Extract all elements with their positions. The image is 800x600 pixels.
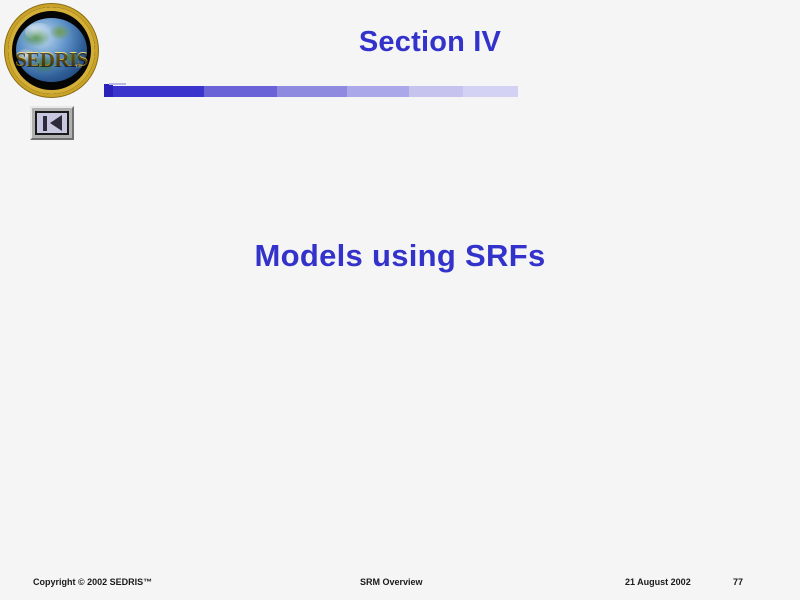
- progress-bar-segment-3: [277, 86, 347, 97]
- footer-copyright: Copyright © 2002 SEDRIS™: [33, 577, 152, 587]
- section-title: Section IV: [110, 26, 750, 59]
- footer-page-number: 77: [733, 577, 743, 587]
- footer-date: 21 August 2002: [625, 577, 691, 587]
- logo-trademark-symbol: ™: [75, 63, 82, 71]
- slide-canvas: SEDRIS ™ Section IV Models using SRFs Co…: [0, 0, 800, 600]
- section-progress-bar: [104, 86, 518, 97]
- page-title: Models using SRFs: [0, 238, 800, 274]
- back-button-face: [35, 111, 69, 135]
- back-button[interactable]: [30, 106, 74, 140]
- progress-bar-segment-1: [104, 86, 204, 97]
- progress-bar-segment-2: [204, 86, 277, 97]
- sedris-logo: SEDRIS ™: [8, 7, 95, 94]
- skip-to-start-icon-triangle: [50, 115, 62, 131]
- footer-document-name: SRM Overview: [360, 577, 423, 587]
- progress-bar-segment-5: [409, 86, 463, 97]
- progress-bar-segment-6: [463, 86, 518, 97]
- skip-to-start-icon-bar: [43, 116, 47, 131]
- slide-footer: Copyright © 2002 SEDRIS™ SRM Overview 21…: [0, 577, 800, 593]
- progress-bar-current-marker: [104, 84, 113, 97]
- logo-disc: SEDRIS ™: [12, 11, 91, 90]
- progress-bar-segment-4: [347, 86, 409, 97]
- progress-bar-tick: [109, 83, 126, 85]
- globe-highlight: [25, 23, 53, 41]
